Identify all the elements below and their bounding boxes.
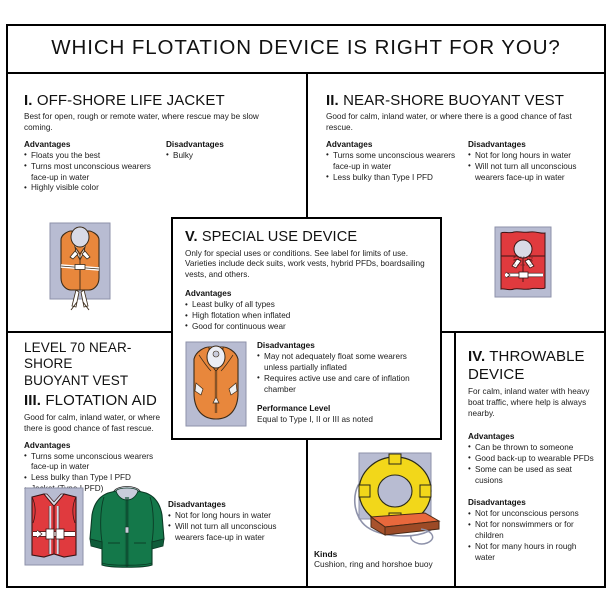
panel-type-4-numeral: IV. bbox=[468, 348, 485, 365]
advantages-label: Advantages bbox=[185, 289, 428, 298]
panel-type-4: IV. THROWABLE DEVICE For calm, inland wa… bbox=[468, 348, 594, 564]
panel-type-5-lower: Disadvantages May not adequately float s… bbox=[185, 341, 428, 427]
panel-type-1-columns: Advantages Floats you the best Turns mos… bbox=[24, 140, 300, 195]
panel-type-5-title: SPECIAL USE DEVICE bbox=[202, 229, 357, 245]
green-jacket-artwork bbox=[86, 481, 168, 569]
panel-type-2-numeral: II. bbox=[326, 92, 339, 109]
list-item: Will not turn all unconscious wearers fa… bbox=[468, 162, 600, 184]
kinds-label: Kinds bbox=[314, 549, 474, 559]
panel-type-1: I. OFF-SHORE LIFE JACKET Best for open, … bbox=[24, 92, 300, 194]
list-item: Some can be used as seat cusions bbox=[468, 465, 594, 487]
list-item: Not for long hours in water bbox=[168, 511, 300, 522]
panel-type-5-advantages-list: Least bulky of all types High flotation … bbox=[185, 300, 428, 333]
panel-type-1-numeral: I. bbox=[24, 92, 33, 109]
list-item: High flotation when inflated bbox=[185, 311, 428, 322]
panel-type-2-disadvantages: Disadvantages Not for long hours in wate… bbox=[468, 140, 600, 184]
infographic-root: WHICH FLOTATION DEVICE IS RIGHT FOR YOU?… bbox=[0, 0, 612, 612]
disadvantages-label: Disadvantages bbox=[168, 500, 300, 509]
divider-vertical-bottom-center bbox=[306, 439, 308, 588]
list-item: Good for continuous wear bbox=[185, 322, 428, 333]
performance-level-label: Performance Level bbox=[257, 404, 428, 413]
red-flotation-vest-icon bbox=[24, 487, 84, 566]
panel-type-3-pretitle-line-2: BUOYANT VEST bbox=[24, 373, 170, 389]
panel-type-2-advantages: Advantages Turns some unconscious wearer… bbox=[326, 140, 458, 184]
panel-type-2-description: Good for calm, inland water, or where th… bbox=[326, 112, 588, 134]
orange-life-jacket-icon bbox=[49, 222, 111, 315]
panel-type-5-description: Only for special uses or conditions. See… bbox=[185, 249, 431, 281]
panel-type-3-disadvantages: Disadvantages Not for long hours in wate… bbox=[168, 500, 300, 544]
list-item: Least bulky of all types bbox=[185, 300, 428, 311]
disadvantages-label: Disadvantages bbox=[257, 341, 428, 350]
red-buoyant-vest-icon bbox=[494, 226, 552, 298]
panel-type-3-pretitle-line-1: LEVEL 70 NEAR-SHORE bbox=[24, 340, 170, 372]
list-item: Can be thrown to someone bbox=[468, 443, 594, 454]
list-item: Turns some unconscious wearers face-up i… bbox=[326, 151, 458, 173]
list-item: Not for long hours in water bbox=[468, 151, 600, 162]
divider-horizontal-mid-left bbox=[6, 331, 172, 333]
panel-type-1-description: Best for open, rough or remote water, wh… bbox=[24, 112, 286, 134]
panel-type-1-heading: I. OFF-SHORE LIFE JACKET bbox=[24, 92, 300, 109]
panel-type-1-advantages: Advantages Floats you the best Turns mos… bbox=[24, 140, 156, 195]
panel-type-1-title: OFF-SHORE LIFE JACKET bbox=[37, 92, 225, 109]
page-title: WHICH FLOTATION DEVICE IS RIGHT FOR YOU? bbox=[51, 36, 560, 60]
panel-type-3-title: FLOTATION AID bbox=[45, 392, 157, 409]
advantages-label: Advantages bbox=[326, 140, 458, 149]
list-item: Will not turn all unconscious wearers fa… bbox=[168, 522, 300, 544]
panel-type-4-disadvantages-list: Not for unconscious persons Not for nons… bbox=[468, 509, 594, 564]
panel-type-2-advantages-list: Turns some unconscious wearers face-up i… bbox=[326, 151, 458, 184]
panel-type-3-numeral: III. bbox=[24, 392, 41, 409]
panel-type-5-numeral: V. bbox=[185, 229, 198, 245]
panel-type-3-description: Good for calm, inland water, or where th… bbox=[24, 413, 164, 435]
performance-level-value: Equal to Type I, II or III as noted bbox=[257, 415, 428, 426]
panel-type-5-heading: V. SPECIAL USE DEVICE bbox=[185, 229, 428, 246]
advantages-label: Advantages bbox=[24, 441, 170, 450]
advantages-label: Advantages bbox=[468, 432, 594, 441]
kinds-text: Cushion, ring and horshoe buoy bbox=[314, 559, 474, 569]
list-item: May not adequately float some wearers un… bbox=[257, 352, 428, 374]
list-item: Good back-up to wearable PFDs bbox=[468, 454, 594, 465]
list-item: Turns some unconscious wearers face-up i… bbox=[24, 452, 168, 474]
panel-type-4-title-line-1: THROWABLE bbox=[489, 348, 584, 365]
orange-inflatable-vest-icon bbox=[185, 341, 247, 427]
green-jacket-icon bbox=[86, 481, 168, 569]
divider-horizontal-mid-right bbox=[441, 331, 606, 333]
disadvantages-label: Disadvantages bbox=[468, 140, 600, 149]
red-buoyant-vest-artwork bbox=[494, 226, 552, 298]
list-item: Floats you the best bbox=[24, 151, 156, 162]
list-item: Bulky bbox=[166, 151, 298, 162]
title-bar: WHICH FLOTATION DEVICE IS RIGHT FOR YOU? bbox=[6, 24, 606, 74]
panel-type-3-disadvantages-list: Not for long hours in water Will not tur… bbox=[168, 511, 300, 544]
orange-inflatable-vest-artwork bbox=[185, 341, 247, 427]
list-item: Not for unconscious persons bbox=[468, 509, 594, 520]
panel-type-5-disadvantages: Disadvantages May not adequately float s… bbox=[257, 341, 428, 427]
panel-type-1-advantages-list: Floats you the best Turns most unconscio… bbox=[24, 151, 156, 195]
kinds-block: Kinds Cushion, ring and horshoe buoy bbox=[314, 549, 474, 569]
panel-type-4-heading: IV. THROWABLE DEVICE bbox=[468, 348, 594, 383]
list-item: Turns most unconscious wearers face-up i… bbox=[24, 162, 156, 184]
panel-type-2-columns: Advantages Turns some unconscious wearer… bbox=[326, 140, 602, 184]
orange-life-jacket-artwork bbox=[49, 222, 111, 315]
disadvantages-label: Disadvantages bbox=[166, 140, 298, 149]
panel-type-2-heading: II. NEAR-SHORE BUOYANT VEST bbox=[326, 92, 602, 109]
panel-type-2-title: NEAR-SHORE BUOYANT VEST bbox=[343, 92, 564, 109]
panel-type-2: II. NEAR-SHORE BUOYANT VEST Good for cal… bbox=[326, 92, 602, 183]
divider-vertical-top bbox=[306, 74, 308, 218]
panel-type-1-disadvantages: Disadvantages Bulky bbox=[166, 140, 298, 195]
list-item: Less bulky than Type I PFD bbox=[326, 173, 458, 184]
panel-type-5-disadvantages-list: May not adequately float some wearers un… bbox=[257, 352, 428, 396]
panel-type-4-advantages-list: Can be thrown to someone Good back-up to… bbox=[468, 443, 594, 487]
advantages-label: Advantages bbox=[24, 140, 156, 149]
panel-type-2-disadvantages-list: Not for long hours in water Will not tur… bbox=[468, 151, 600, 184]
list-item: Highly visible color bbox=[24, 183, 156, 194]
red-flotation-vest-artwork bbox=[24, 487, 84, 566]
ring-buoy-and-cushion-artwork bbox=[347, 451, 443, 551]
panel-type-4-title-line-2: DEVICE bbox=[468, 366, 524, 383]
disadvantages-label: Disadvantages bbox=[468, 498, 594, 507]
panel-type-1-disadvantages-list: Bulky bbox=[166, 151, 298, 162]
ring-buoy-and-cushion-icon bbox=[347, 451, 443, 551]
panel-type-5: V. SPECIAL USE DEVICE Only for special u… bbox=[171, 217, 442, 440]
panel-type-4-description: For calm, inland water with heavy boat t… bbox=[468, 387, 592, 419]
list-item: Not for nonswimmers or for children bbox=[468, 520, 594, 542]
list-item: Not for many hours in rough water bbox=[468, 542, 594, 564]
panel-type-3-heading: III. FLOTATION AID bbox=[24, 392, 170, 409]
list-item: Requires active use and care of inflatio… bbox=[257, 374, 428, 396]
panel-type-3: LEVEL 70 NEAR-SHORE BUOYANT VEST III. FL… bbox=[24, 340, 170, 495]
